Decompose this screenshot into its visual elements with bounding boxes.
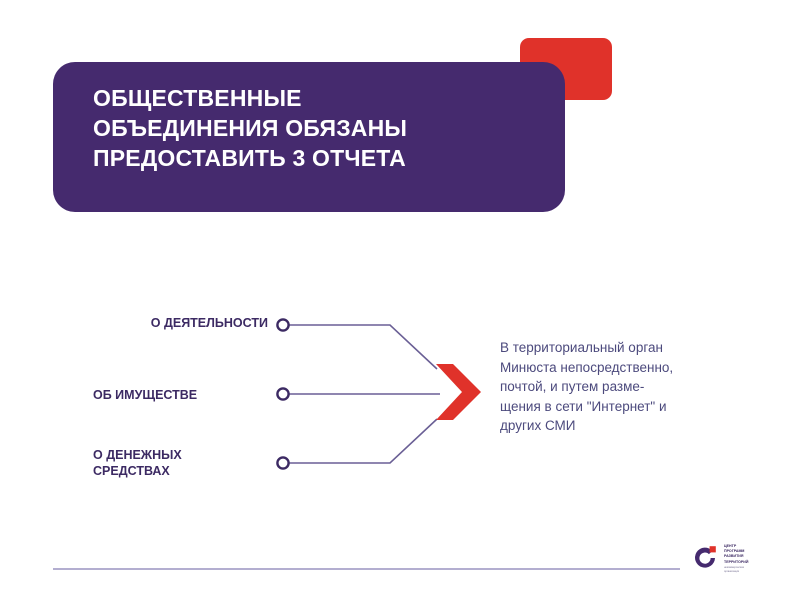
slide-canvas: ОБЩЕСТВЕННЫЕ ОБЪЕДИНЕНИЯ ОБЯЗАНЫ ПРЕДОСТ… bbox=[0, 0, 800, 600]
connector-diagram bbox=[0, 0, 800, 600]
arrow-note-text: В территориальный орган Минюста непосред… bbox=[500, 338, 750, 436]
logo-subtitle: некоммерческая организация bbox=[724, 566, 790, 573]
logo-circle-icon bbox=[692, 545, 718, 571]
footer-divider bbox=[53, 568, 680, 570]
chevron-arrow-icon bbox=[436, 364, 481, 420]
organization-logo: ЦЕНТР ПРОГРАММ РАЗВИТИЯ ТЕРРИТОРИЙ неком… bbox=[692, 542, 790, 576]
connector-line-bottom bbox=[288, 419, 437, 463]
connector-line-top bbox=[288, 325, 437, 369]
node-circle-funds bbox=[277, 457, 288, 468]
logo-title: ЦЕНТР ПРОГРАММ РАЗВИТИЯ ТЕРРИТОРИЙ bbox=[724, 544, 790, 565]
node-circle-property bbox=[277, 388, 288, 399]
node-circle-activity bbox=[277, 319, 288, 330]
